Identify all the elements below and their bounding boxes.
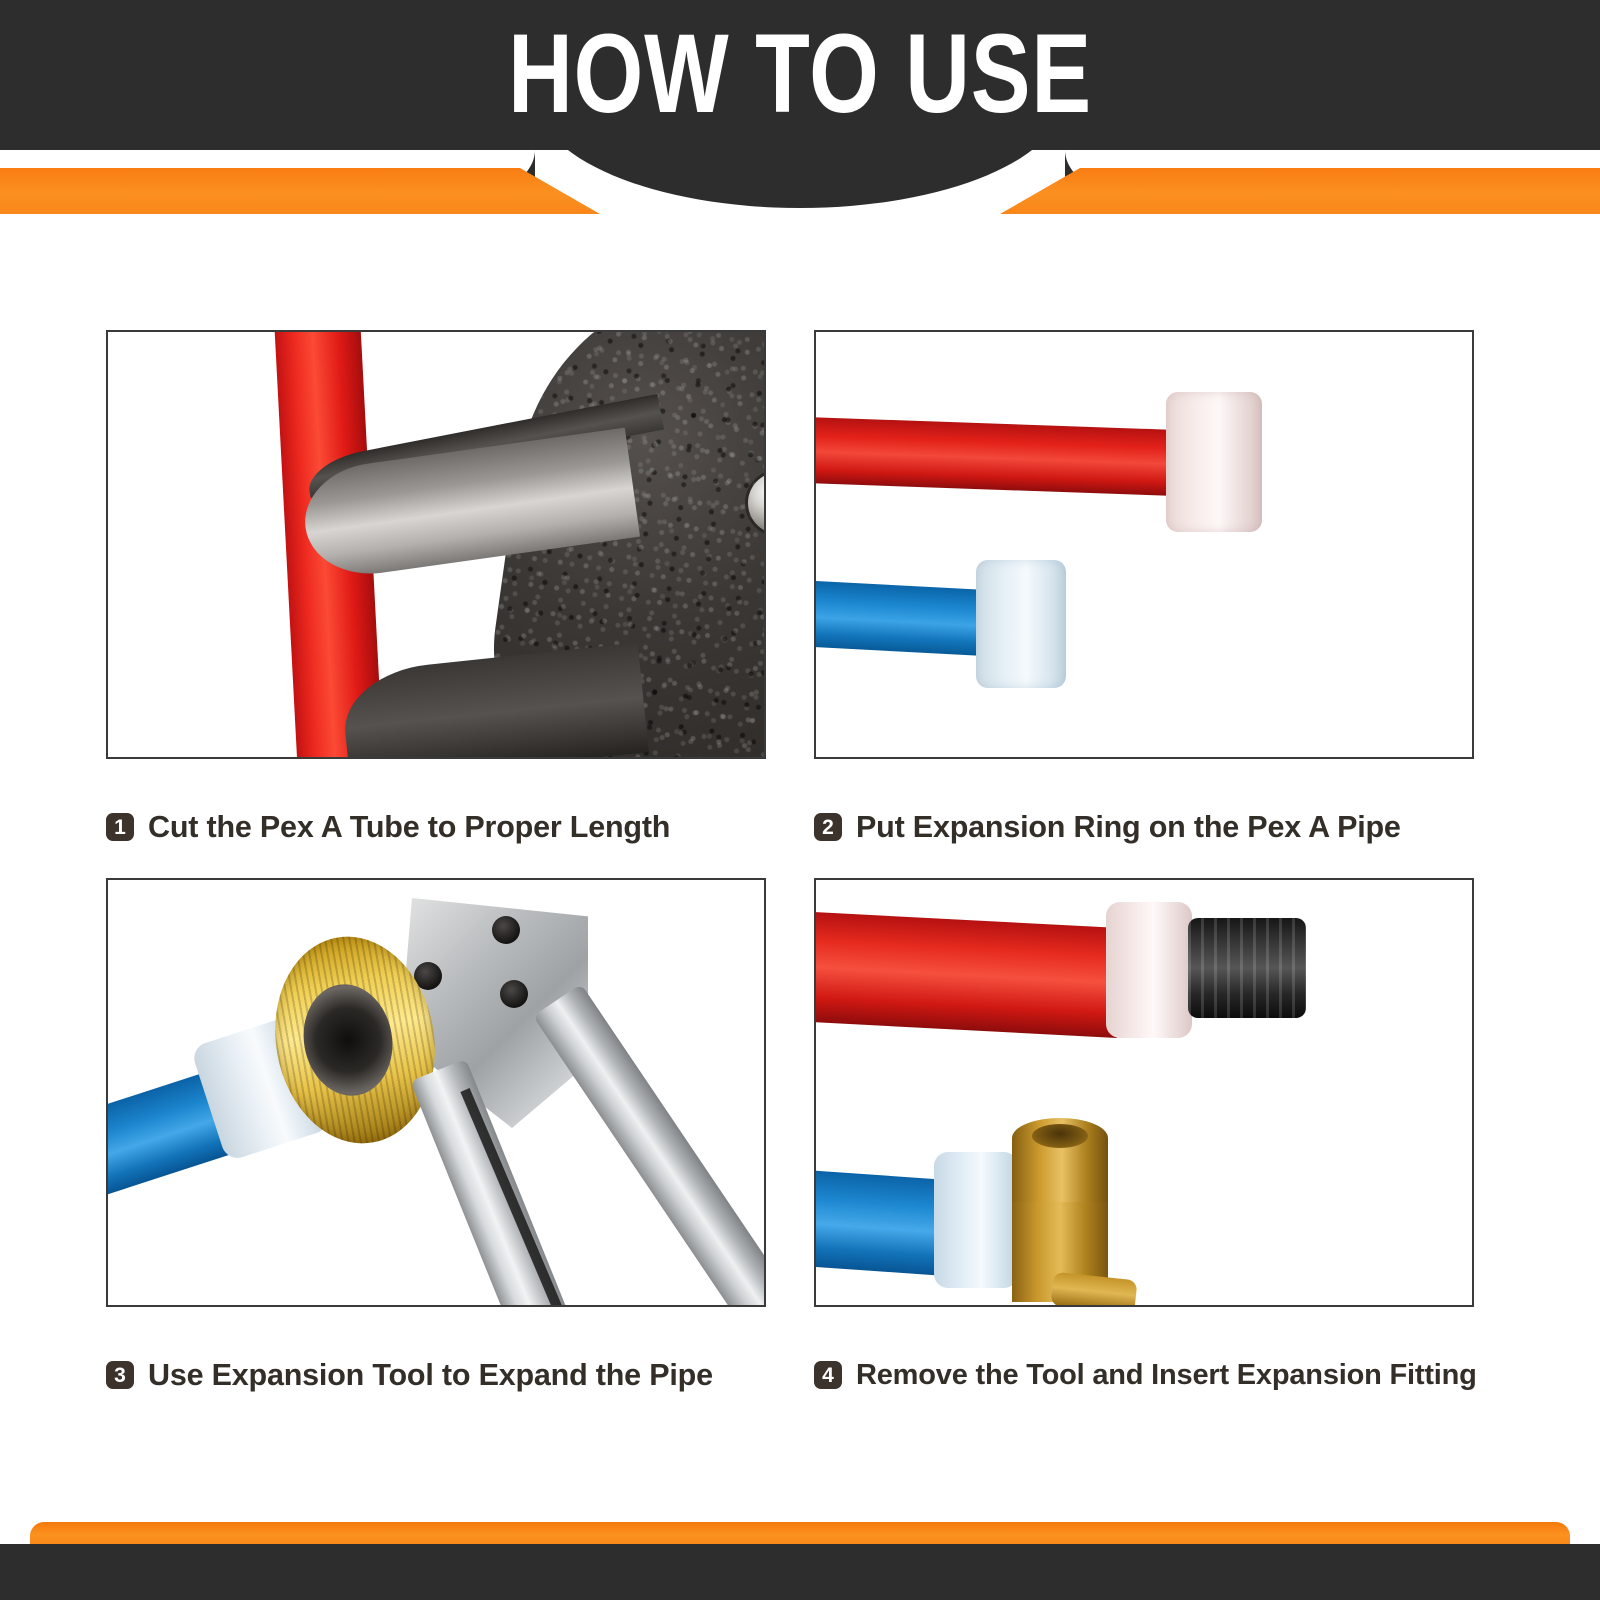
step-card-4: 4 Remove the Tool and Insert Expansion F… (814, 878, 1498, 1395)
tool-hole-icon (500, 980, 528, 1008)
step-photo-4 (814, 878, 1474, 1307)
step-caption-text: Use Expansion Tool to Expand the Pipe (148, 1358, 713, 1393)
step-caption-2: 2 Put Expansion Ring on the Pex A Pipe (814, 807, 1498, 847)
orange-accent-bar-right (1000, 168, 1600, 214)
step-caption-text: Remove the Tool and Insert Expansion Fit… (856, 1359, 1477, 1392)
expansion-ring-red (1166, 392, 1262, 532)
page-title: HOW TO USE (160, 4, 1440, 144)
step-card-1: 1 Cut the Pex A Tube to Proper Length (106, 330, 790, 847)
tool-handle-upper (533, 984, 766, 1307)
red-pex-pipe (814, 417, 1201, 497)
expansion-ring-blue (976, 560, 1066, 688)
expansion-ring-red (1106, 902, 1192, 1038)
step-number-badge: 1 (106, 813, 134, 841)
expansion-ring-blue (934, 1152, 1018, 1288)
orange-accent-bar-bottom (30, 1522, 1570, 1544)
step-photo-3 (106, 878, 766, 1307)
tool-hole-icon (492, 916, 520, 944)
step-card-3: 3 Use Expansion Tool to Expand the Pipe (106, 878, 790, 1395)
step-card-2: 2 Put Expansion Ring on the Pex A Pipe (814, 330, 1498, 847)
step-photo-2 (814, 330, 1474, 759)
step-number-badge: 4 (814, 1361, 842, 1389)
step-photo-1 (106, 330, 766, 759)
step-caption-4: 4 Remove the Tool and Insert Expansion F… (814, 1355, 1498, 1395)
step-caption-text: Put Expansion Ring on the Pex A Pipe (856, 810, 1401, 845)
step-caption-1: 1 Cut the Pex A Tube to Proper Length (106, 807, 790, 847)
steps-grid: 1 Cut the Pex A Tube to Proper Length 2 … (0, 300, 1600, 1460)
orange-accent-bar-left (0, 168, 600, 214)
brass-drop-ear-tab (1050, 1272, 1137, 1307)
step-number-badge: 2 (814, 813, 842, 841)
red-pex-pipe (814, 912, 1123, 1038)
step-caption-text: Cut the Pex A Tube to Proper Length (148, 810, 670, 845)
brass-elbow-bore (1032, 1124, 1088, 1148)
footer-banner (0, 1544, 1600, 1600)
step-number-badge: 3 (106, 1361, 134, 1389)
cutter-lower-jaw (339, 643, 649, 759)
black-barb-fitting (1188, 918, 1306, 1018)
step-caption-3: 3 Use Expansion Tool to Expand the Pipe (106, 1355, 790, 1395)
